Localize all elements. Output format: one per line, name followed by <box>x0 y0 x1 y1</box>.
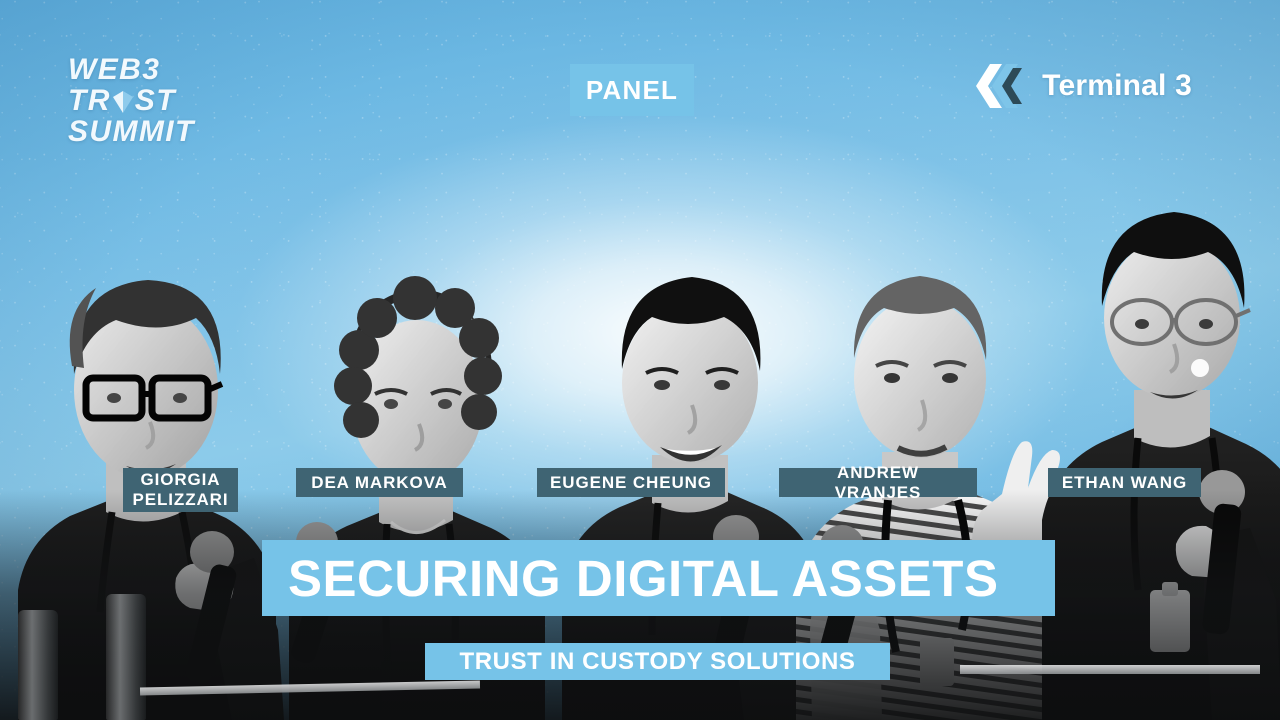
terminal3-logo-icon <box>972 58 1028 114</box>
session-subtitle-banner: TRUST IN CUSTODY SOLUTIONS <box>425 643 890 680</box>
session-title: SECURING DIGITAL ASSETS <box>288 549 998 608</box>
panel-badge: PANEL <box>570 64 694 116</box>
logo-trust-suffix: ST <box>135 84 176 117</box>
logo-line-trust: TRST <box>68 85 195 116</box>
water-bottle-center <box>106 594 146 720</box>
session-subtitle: TRUST IN CUSTODY SOLUTIONS <box>459 648 855 676</box>
logo-line-summit: SUMMIT <box>68 116 195 147</box>
sponsor-logo-terminal3: Terminal 3 <box>972 58 1192 114</box>
logo-line-web3: WEB3 <box>68 54 195 85</box>
panel-badge-label: PANEL <box>586 75 678 106</box>
nameplate-andrew-vranjes: ANDREW VRANJES <box>779 468 977 497</box>
logo-trust-prefix: TR <box>68 84 111 117</box>
water-bottle-left <box>18 610 58 720</box>
shield-diamond-icon <box>112 90 134 114</box>
panel-promo-graphic: WEB3 TRST SUMMIT PANEL Terminal 3 GIORGI… <box>0 0 1280 720</box>
nameplate-dea-markova: DEA MARKOVA <box>296 468 463 497</box>
web3-trust-summit-logo: WEB3 TRST SUMMIT <box>68 54 195 147</box>
nameplate-eugene-cheung: EUGENE CHEUNG <box>537 468 725 497</box>
session-title-banner: SECURING DIGITAL ASSETS <box>262 540 1055 616</box>
sponsor-name: Terminal 3 <box>1042 69 1192 103</box>
table-edge-right <box>960 665 1260 674</box>
nameplate-giorgia-pelizzari: GIORGIA PELIZZARI <box>123 468 238 512</box>
nameplate-ethan-wang: ETHAN WANG <box>1048 468 1201 497</box>
